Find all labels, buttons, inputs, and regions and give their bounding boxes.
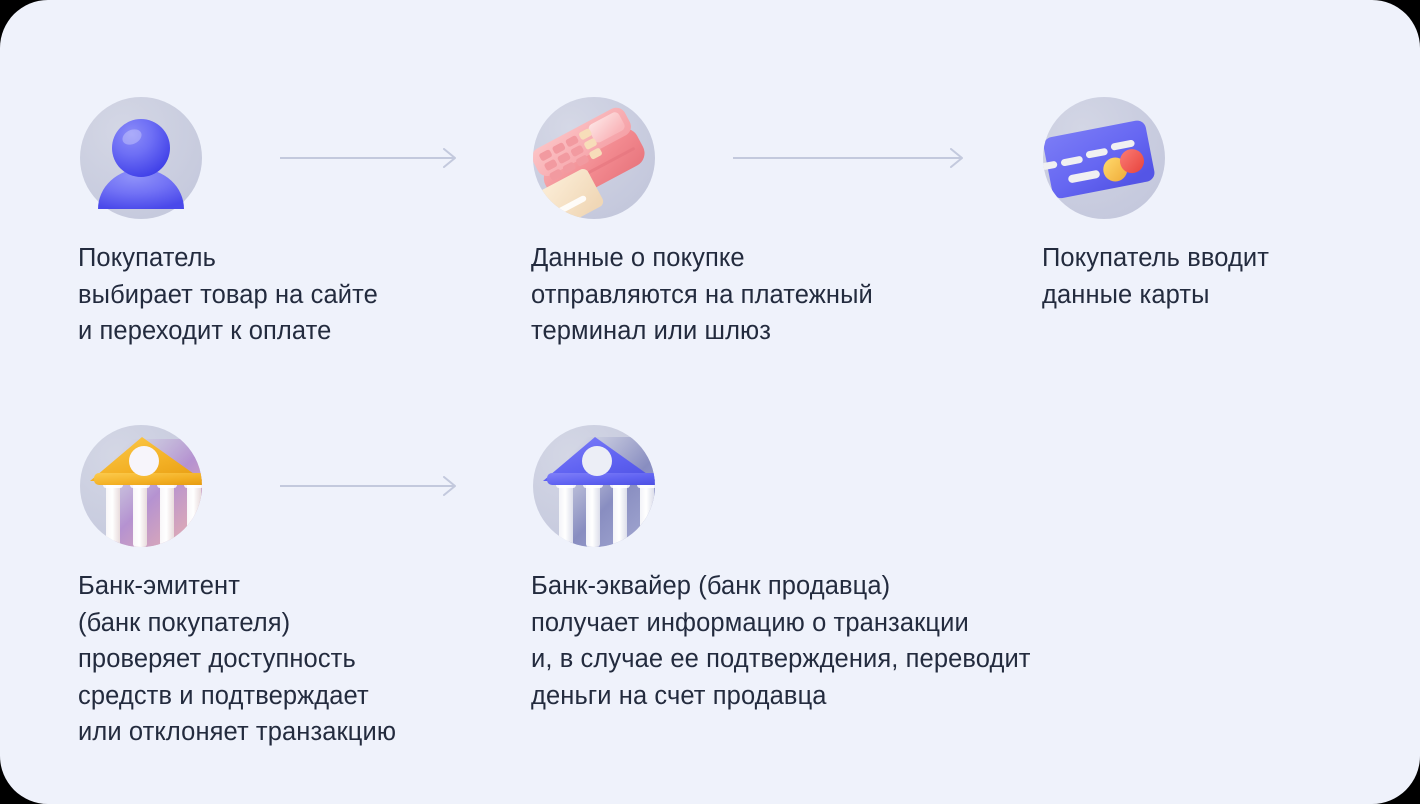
step-text-buyer-enters-card: Покупатель вводит данные карты [1042,240,1269,313]
arrow-right-icon [280,476,458,496]
step-line: и, в случае ее подтверждения, переводит [531,641,1031,678]
step-line: проверяет доступность [78,641,396,678]
step-text-data-to-terminal: Данные о покупке отправляются на платежн… [531,240,873,350]
step-line: средств и подтверждает [78,678,396,715]
step-text-issuing-bank: Банк-эмитент (банк покупателя) проверяет… [78,568,396,751]
diagram-card: Покупатель выбирает товар на сайте и пер… [0,0,1420,804]
step-line: Данные о покупке [531,240,873,277]
acquiring-bank-icon [533,425,655,547]
step-line: Покупатель вводит [1042,240,1269,277]
arrow-right-icon [280,148,458,168]
step-line: данные карты [1042,277,1269,314]
issuing-bank-icon [80,425,202,547]
step-line: отправляются на платежный [531,277,873,314]
step-line: деньги на счет продавца [531,678,1031,715]
step-line: (банк покупателя) [78,605,396,642]
step-line: Банк-эмитент [78,568,396,605]
step-line: выбирает товар на сайте [78,277,378,314]
step-line: и переходит к оплате [78,313,378,350]
step-line: терминал или шлюз [531,313,873,350]
user-avatar-icon [80,97,202,219]
step-line: Покупатель [78,240,378,277]
step-text-acquiring-bank: Банк-эквайер (банк продавца) получает ин… [531,568,1031,714]
arrow-right-icon [733,148,965,168]
step-line: получает информацию о транзакции [531,605,1031,642]
step-line: Банк-эквайер (банк продавца) [531,568,1031,605]
step-line: или отклоняет транзакцию [78,714,396,751]
credit-card-icon [1043,97,1165,219]
step-text-buyer-selects: Покупатель выбирает товар на сайте и пер… [78,240,378,350]
pos-terminal-icon [533,97,655,219]
